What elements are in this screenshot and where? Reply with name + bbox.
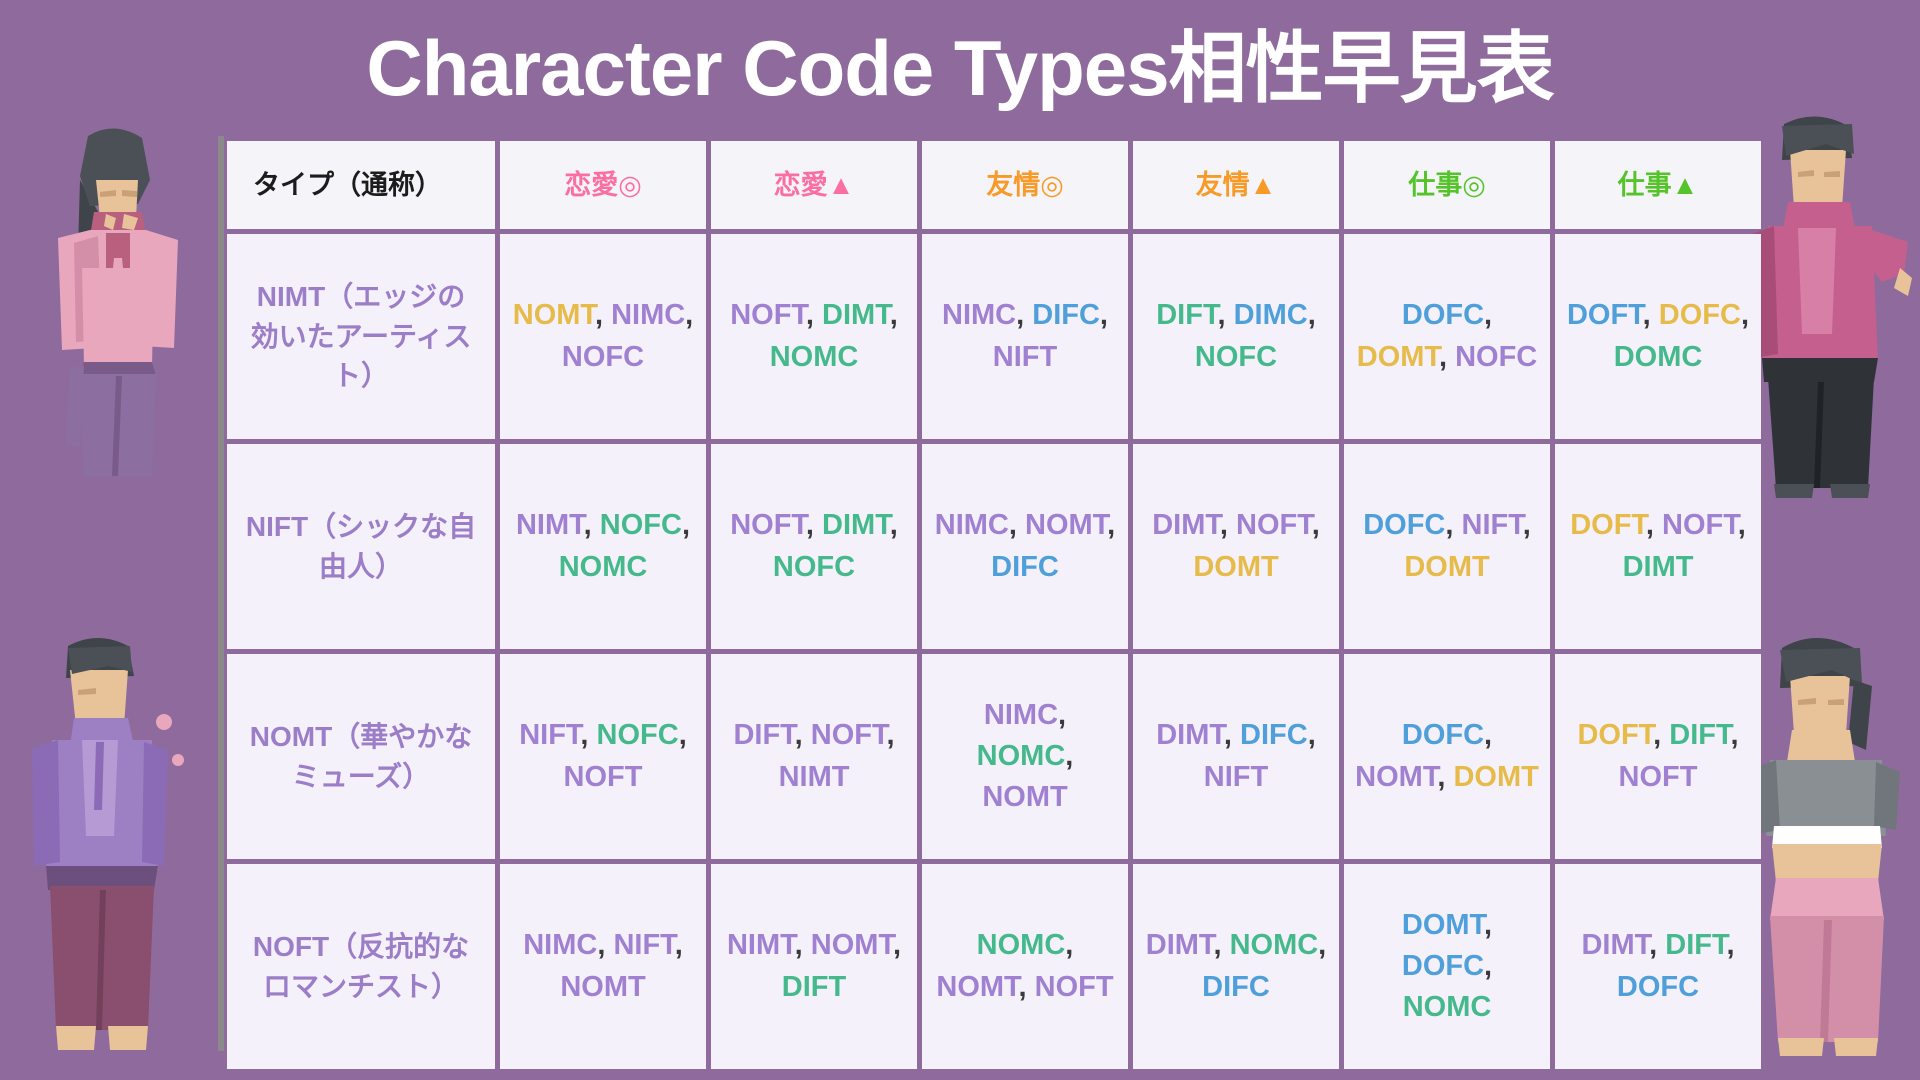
code-separator: ,: [1741, 299, 1749, 331]
table-cell-codes: NOMC, NOMT, NOFT: [922, 864, 1128, 1069]
code-separator: ,: [597, 929, 613, 961]
table-cell-codes: NOFT, DIMT, NOMC: [711, 234, 917, 439]
header-cell-type: タイプ（通称）: [227, 141, 495, 229]
type-code: DOFT: [1577, 719, 1653, 751]
type-code: DIMT: [1146, 929, 1214, 961]
code-separator: ,: [1646, 509, 1662, 541]
type-code: NOFT: [730, 299, 806, 331]
table-row: NOMT（華やかなミューズ）NIFT, NOFC, NOFTDIFT, NOFT…: [227, 654, 1761, 859]
table-cell-codes: NIMC, DIFC, NIFT: [922, 234, 1128, 439]
code-separator: ,: [580, 719, 596, 751]
code-separator: ,: [1484, 719, 1492, 751]
type-code: NOFT: [1619, 761, 1698, 793]
table-cell-codes: DOFC, NIFT, DOMT: [1344, 444, 1550, 649]
type-code: NIMT: [727, 929, 795, 961]
code-separator: ,: [1009, 509, 1025, 541]
table-cell-codes: DIMT, DIFC, NIFT: [1133, 654, 1339, 859]
type-code: NOMT: [560, 971, 645, 1003]
page-title: Character Code Types相性早見表: [0, 26, 1920, 110]
code-separator: ,: [1649, 929, 1665, 961]
code-separator: ,: [1065, 740, 1073, 772]
type-code: DOFC: [1402, 719, 1484, 751]
code-separator: ,: [679, 719, 687, 751]
code-separator: ,: [890, 509, 898, 541]
code-separator: ,: [887, 719, 895, 751]
table-cell-codes: DOFC, NOMT, DOMT: [1344, 654, 1550, 859]
type-code: DOFT: [1570, 509, 1646, 541]
type-code: DOMT: [1357, 341, 1439, 373]
table-cell-codes: DOFT, NOFT, DIMT: [1555, 444, 1761, 649]
type-code: NOFT: [1662, 509, 1738, 541]
table-row: NOFT（反抗的なロマンチスト）NIMC, NIFT, NOMTNIMT, NO…: [227, 864, 1761, 1069]
type-code: NOMC: [977, 929, 1066, 961]
code-separator: ,: [890, 299, 898, 331]
type-code: NOFC: [773, 551, 855, 583]
type-code: DIMT: [1623, 551, 1694, 583]
type-code: NOMT: [936, 971, 1018, 1003]
type-code: NOFC: [1455, 341, 1537, 373]
type-code: NOFC: [597, 719, 679, 751]
type-code: NOMT: [513, 299, 595, 331]
code-separator: ,: [1484, 909, 1492, 941]
table-cell-codes: NOFT, DIMT, NOFC: [711, 444, 917, 649]
type-code: DIFC: [991, 551, 1059, 583]
type-code: DIMT: [1581, 929, 1649, 961]
type-code: DIMT: [1152, 509, 1220, 541]
code-separator: ,: [795, 929, 811, 961]
code-separator: ,: [1484, 299, 1492, 331]
type-code: NOMC: [559, 551, 648, 583]
code-separator: ,: [795, 719, 811, 751]
type-code: DIFT: [782, 971, 846, 1003]
type-code: NOFT: [1236, 509, 1312, 541]
code-separator: ,: [1107, 509, 1115, 541]
code-separator: ,: [893, 929, 901, 961]
type-code: DIMT: [822, 509, 890, 541]
table-cell-codes: DOFT, DIFT, NOFT: [1555, 654, 1761, 859]
type-code: NOMT: [982, 781, 1067, 813]
type-code: DOMC: [1614, 341, 1703, 373]
table-cell-codes: DOMT, DOFC, NOMC: [1344, 864, 1550, 1069]
code-separator: ,: [1445, 509, 1461, 541]
type-code: NOMT: [811, 929, 893, 961]
code-separator: ,: [1016, 299, 1032, 331]
type-code: DIMT: [1156, 719, 1224, 751]
type-code: NOMC: [1230, 929, 1319, 961]
type-code: NIFT: [993, 341, 1057, 373]
type-code: NOMC: [770, 341, 859, 373]
code-separator: ,: [595, 299, 611, 331]
row-label-type: NOMT（華やかなミューズ）: [227, 654, 495, 859]
code-separator: ,: [1653, 719, 1669, 751]
table-cell-codes: NIFT, NOFC, NOFT: [500, 654, 706, 859]
code-separator: ,: [1220, 509, 1236, 541]
type-code: NOMT: [1025, 509, 1107, 541]
type-code: NOMC: [1403, 991, 1492, 1023]
type-code: NIMC: [935, 509, 1009, 541]
type-code: DOFC: [1363, 509, 1445, 541]
type-code: NOMT: [1355, 761, 1437, 793]
code-separator: ,: [584, 509, 600, 541]
code-separator: ,: [1738, 509, 1746, 541]
table-cell-codes: NIMC, NIFT, NOMT: [500, 864, 706, 1069]
row-label-type: NOFT（反抗的なロマンチスト）: [227, 864, 495, 1069]
compatibility-table: タイプ（通称） 恋愛◎ 恋愛▲ 友情◎ 友情▲ 仕事◎ 仕事▲ NIMT（エッジ…: [222, 136, 1766, 1074]
type-code: DOFC: [1617, 971, 1699, 1003]
code-separator: ,: [1312, 509, 1320, 541]
code-separator: ,: [1726, 929, 1734, 961]
code-separator: ,: [806, 299, 822, 331]
header-row: タイプ（通称） 恋愛◎ 恋愛▲ 友情◎ 友情▲ 仕事◎ 仕事▲: [227, 141, 1761, 229]
type-code: DOMT: [1404, 551, 1489, 583]
type-code: DIFT: [1669, 719, 1730, 751]
table-row: NIFT（シックな自由人）NIMT, NOFC, NOMCNOFT, DIMT,…: [227, 444, 1761, 649]
table-cell-codes: NIMT, NOFC, NOMC: [500, 444, 706, 649]
type-code: DOFC: [1659, 299, 1741, 331]
code-separator: ,: [1065, 929, 1073, 961]
type-code: DIFT: [733, 719, 794, 751]
header-cell-work-caution: 仕事▲: [1555, 141, 1761, 229]
code-separator: ,: [1643, 299, 1659, 331]
table-cell-codes: NIMC, NOMT, DIFC: [922, 444, 1128, 649]
table-cell-codes: NOMT, NIMC, NOFC: [500, 234, 706, 439]
type-code: NOFT: [811, 719, 887, 751]
code-separator: ,: [675, 929, 683, 961]
code-separator: ,: [1731, 719, 1739, 751]
type-code: NIMC: [611, 299, 685, 331]
type-code: DOMT: [1453, 761, 1538, 793]
code-separator: ,: [1019, 971, 1035, 1003]
type-code: NOFC: [600, 509, 682, 541]
code-separator: ,: [1308, 719, 1316, 751]
type-code: NOFT: [730, 509, 806, 541]
table-cell-codes: DIFT, NOFT, NIMT: [711, 654, 917, 859]
type-code: NOFT: [564, 761, 643, 793]
type-code: DOFC: [1402, 299, 1484, 331]
type-code: NIMT: [779, 761, 850, 793]
table-header: タイプ（通称） 恋愛◎ 恋愛▲ 友情◎ 友情▲ 仕事◎ 仕事▲: [227, 141, 1761, 229]
type-code: DIFT: [1156, 299, 1217, 331]
header-cell-friendship-good: 友情◎: [922, 141, 1128, 229]
type-code: DOMT: [1402, 909, 1484, 941]
poster-canvas: Character Code Types相性早見表 タイプ（通称） 恋愛◎ 恋愛…: [0, 0, 1920, 1080]
type-code: NIFT: [613, 929, 674, 961]
table-cell-codes: DIMT, DIFT, DOFC: [1555, 864, 1761, 1069]
code-separator: ,: [1523, 509, 1531, 541]
type-code: NIFT: [1462, 509, 1523, 541]
type-code: NOFT: [1035, 971, 1114, 1003]
table-cell-codes: DIMT, NOMC, DIFC: [1133, 864, 1339, 1069]
header-cell-work-good: 仕事◎: [1344, 141, 1550, 229]
type-code: DIFC: [1240, 719, 1308, 751]
type-code: NIFT: [1204, 761, 1268, 793]
type-code: DIFC: [1202, 971, 1270, 1003]
type-code: NIMC: [942, 299, 1016, 331]
table-cell-codes: DIMT, NOFT, DOMT: [1133, 444, 1339, 649]
row-label-type: NIFT（シックな自由人）: [227, 444, 495, 649]
header-cell-romance-caution: 恋愛▲: [711, 141, 917, 229]
table-cell-codes: DIFT, DIMC, NOFC: [1133, 234, 1339, 439]
type-code: DIMT: [822, 299, 890, 331]
type-code: NOFC: [562, 341, 644, 373]
code-separator: ,: [1439, 341, 1455, 373]
table-row: NIMT（エッジの効いたアーティスト）NOMT, NIMC, NOFCNOFT,…: [227, 234, 1761, 439]
table-body: NIMT（エッジの効いたアーティスト）NOMT, NIMC, NOFCNOFT,…: [227, 234, 1761, 1069]
code-separator: ,: [1308, 299, 1316, 331]
type-code: DOFC: [1402, 950, 1484, 982]
compatibility-table-wrapper: タイプ（通称） 恋愛◎ 恋愛▲ 友情◎ 友情▲ 仕事◎ 仕事▲ NIMT（エッジ…: [218, 136, 1728, 1051]
type-code: NIFT: [519, 719, 580, 751]
type-code: NIMC: [984, 699, 1058, 731]
type-code: DOMT: [1193, 551, 1278, 583]
type-code: DIFT: [1665, 929, 1726, 961]
type-code: NIMC: [523, 929, 597, 961]
code-separator: ,: [1217, 299, 1233, 331]
code-separator: ,: [1318, 929, 1326, 961]
code-separator: ,: [682, 509, 690, 541]
table-cell-codes: NIMC, NOMC, NOMT: [922, 654, 1128, 859]
code-separator: ,: [1058, 699, 1066, 731]
table-cell-codes: DOFT, DOFC, DOMC: [1555, 234, 1761, 439]
type-code: NOMC: [977, 740, 1066, 772]
table-cell-codes: NIMT, NOMT, DIFT: [711, 864, 917, 1069]
code-separator: ,: [1437, 761, 1453, 793]
character-illustration-top-left: [18, 118, 193, 483]
type-code: NIMT: [516, 509, 584, 541]
type-code: DOFT: [1567, 299, 1643, 331]
header-cell-friendship-caution: 友情▲: [1133, 141, 1339, 229]
type-code: DIFC: [1032, 299, 1100, 331]
code-separator: ,: [1100, 299, 1108, 331]
character-illustration-bottom-left: [12, 630, 187, 1065]
table-cell-codes: DOFC, DOMT, NOFC: [1344, 234, 1550, 439]
code-separator: ,: [806, 509, 822, 541]
header-cell-romance-good: 恋愛◎: [500, 141, 706, 229]
type-code: NOFC: [1195, 341, 1277, 373]
row-label-type: NIMT（エッジの効いたアーティスト）: [227, 234, 495, 439]
code-separator: ,: [1213, 929, 1229, 961]
code-separator: ,: [1484, 950, 1492, 982]
code-separator: ,: [685, 299, 693, 331]
type-code: DIMC: [1234, 299, 1308, 331]
code-separator: ,: [1224, 719, 1240, 751]
